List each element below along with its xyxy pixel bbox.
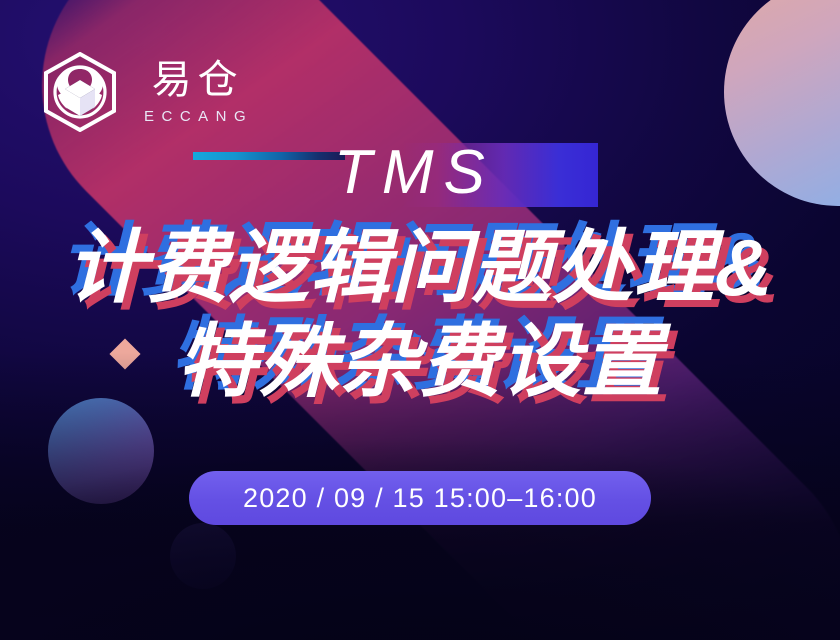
eccang-hexagon-cube-logo-icon <box>42 52 118 132</box>
page-title: 计费逻辑问题处理& 计费逻辑问题处理& 计费逻辑问题处理& 特殊杂费设置 特殊杂… <box>0 228 840 402</box>
cyan-rule <box>193 152 345 160</box>
brand-logo: 易仓 ECCANG <box>42 52 253 132</box>
headline-line-2-text: 特殊杂费设置 <box>177 317 663 406</box>
headline-line-1: 计费逻辑问题处理& 计费逻辑问题处理& 计费逻辑问题处理& <box>0 228 840 308</box>
brand-wordmark: 易仓 ECCANG <box>136 60 253 124</box>
webinar-poster: 易仓 ECCANG TMS 计费逻辑问题处理& 计费逻辑问题处理& 计费逻辑问题… <box>0 0 840 640</box>
schedule-text: 2020 / 09 / 15 15:00–16:00 <box>243 483 597 514</box>
headline-line-1-text: 计费逻辑问题处理& <box>67 223 774 312</box>
brand-name-chinese: 易仓 <box>146 60 244 100</box>
schedule-badge: 2020 / 09 / 15 15:00–16:00 <box>189 471 651 525</box>
headline-line-2: 特殊杂费设置 特殊杂费设置 特殊杂费设置 <box>0 322 840 402</box>
product-label-row: TMS <box>330 137 495 209</box>
brand-name-english: ECCANG <box>136 109 253 124</box>
product-label: TMS <box>330 142 495 204</box>
